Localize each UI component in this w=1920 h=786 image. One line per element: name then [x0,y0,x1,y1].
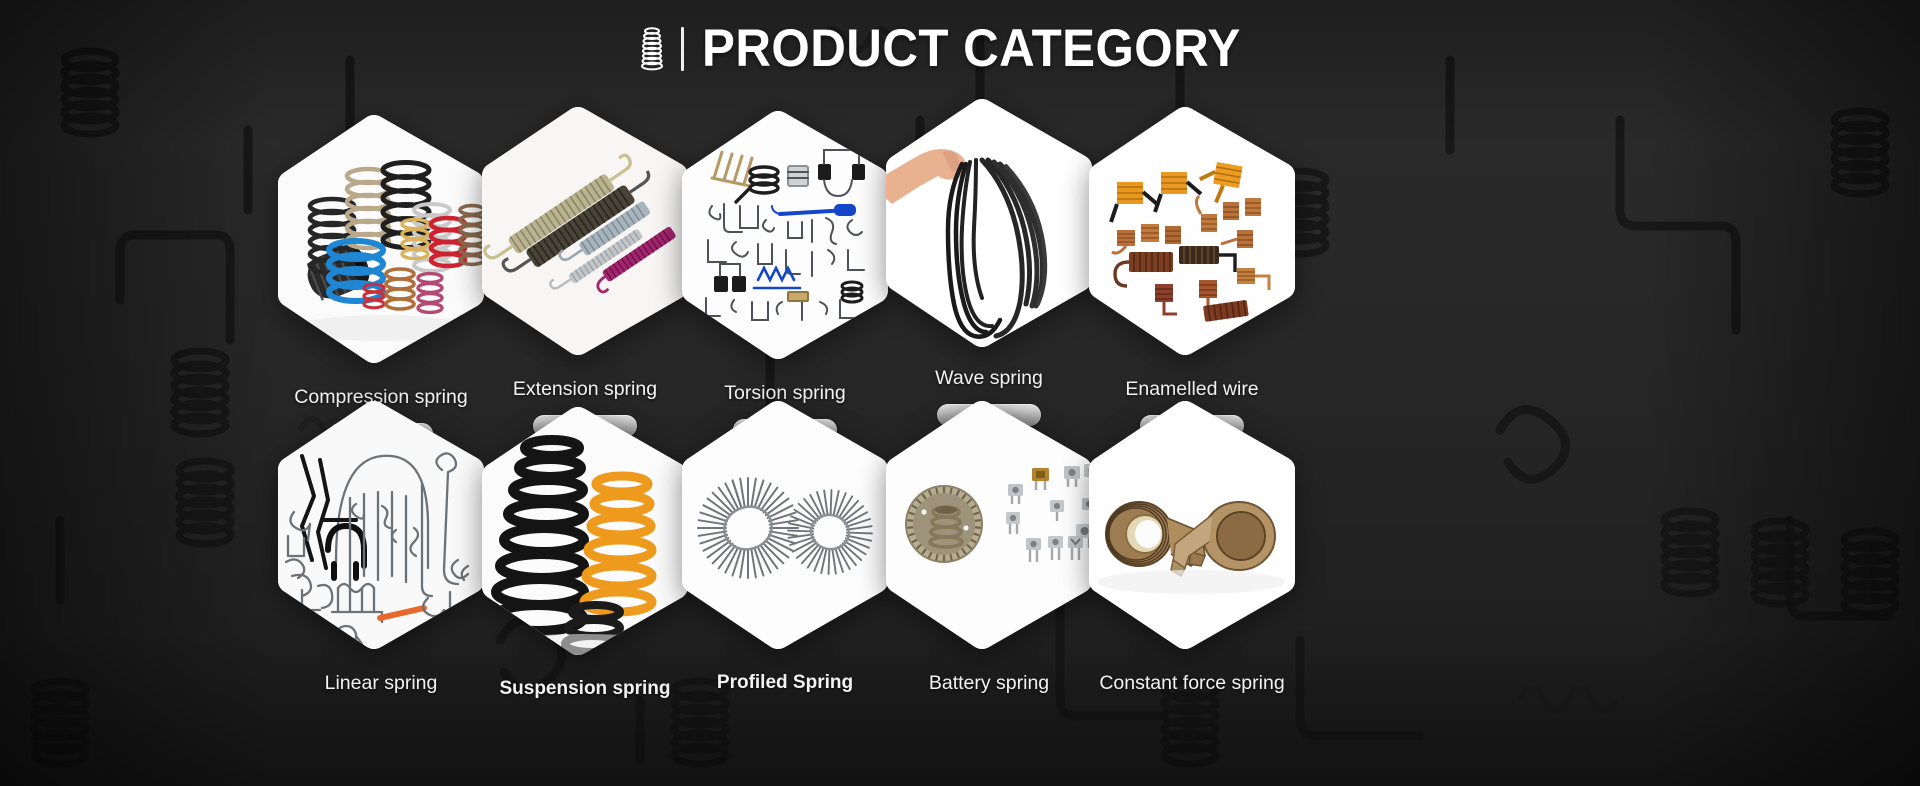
suspension-spring-photo [476,406,694,656]
category-label: Profiled Spring [676,672,894,695]
linear-spring-photo [272,400,490,650]
constant-force-spring-photo [1083,400,1301,650]
category-card-enamelled-wire[interactable]: Enamelled wire [1083,106,1301,437]
category-card-profiled-spring[interactable]: Profiled Spring [676,400,894,731]
hexagon-tile[interactable] [1083,106,1301,356]
category-card-compression-spring[interactable]: Compression spring [272,114,490,445]
compression-spring-photo [272,114,490,364]
hexagon-tile[interactable] [676,110,894,360]
section-header: PRODUCT CATEGORY [0,22,1920,75]
category-card-wave-spring[interactable]: Wave spring [880,98,1098,426]
title-divider [681,27,684,71]
category-card-suspension-spring[interactable]: Suspension spring [476,406,694,737]
hexagon-tile[interactable] [676,400,894,650]
product-category-grid: Compression spring [0,0,1920,786]
hexagon-tile[interactable] [1083,400,1301,650]
category-label: Extension spring [476,378,694,401]
wave-spring-photo [880,98,1098,348]
hexagon-tile[interactable] [880,98,1098,348]
category-card-extension-spring[interactable]: Extension spring [476,106,694,437]
category-card-torsion-spring[interactable]: Torsion spring [676,110,894,441]
page-title: PRODUCT CATEGORY [702,22,1241,75]
category-label: Battery spring [880,672,1098,695]
category-card-linear-spring[interactable]: Linear spring [272,400,490,731]
enamelled-wire-photo [1083,106,1301,356]
torsion-spring-photo [676,110,894,360]
profiled-spring-photo [676,400,894,650]
hexagon-tile[interactable] [476,106,694,356]
hexagon-tile[interactable] [880,400,1098,650]
category-card-battery-spring[interactable]: Battery spring [880,400,1098,731]
extension-spring-photo [476,106,694,356]
category-label: Enamelled wire [1083,378,1301,401]
category-label: Linear spring [272,672,490,695]
hexagon-tile[interactable] [476,406,694,656]
category-label: Wave spring [880,367,1098,390]
hexagon-tile[interactable] [272,114,490,364]
battery-spring-photo [880,400,1098,650]
category-label: Constant force spring [1083,672,1301,695]
spring-coil-icon [639,26,665,72]
category-card-constant-force-spring[interactable]: Constant force spring [1083,400,1301,731]
category-label: Suspension spring [476,678,694,701]
hexagon-tile[interactable] [272,400,490,650]
